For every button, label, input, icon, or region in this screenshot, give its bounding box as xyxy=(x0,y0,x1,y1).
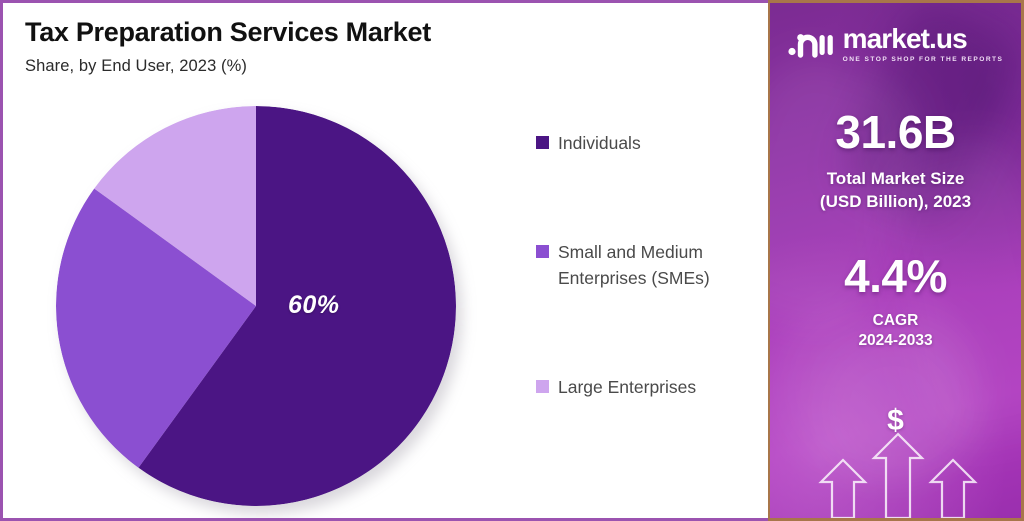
legend-label: Small and Medium Enterprises (SMEs) xyxy=(558,240,751,291)
cagr-caption-line1: CAGR xyxy=(770,311,1021,331)
chart-subtitle: Share, by End User, 2023 (%) xyxy=(25,57,768,76)
market-size-caption-line1: Total Market Size xyxy=(770,168,1021,190)
legend-swatch-icon xyxy=(536,245,549,258)
legend-item-large-enterprises[interactable]: Large Enterprises xyxy=(536,375,751,400)
brand-logo-text: market.us ONE STOP SHOP FOR THE REPORTS xyxy=(843,25,1004,63)
legend-item-smes[interactable]: Small and Medium Enterprises (SMEs) xyxy=(536,240,751,291)
infographic-root: Tax Preparation Services Market Share, b… xyxy=(0,0,1024,521)
pie-svg xyxy=(56,106,456,506)
market-us-logo-icon xyxy=(788,29,834,59)
pie-chart: 60% xyxy=(56,106,456,506)
brand-logo[interactable]: market.us ONE STOP SHOP FOR THE REPORTS xyxy=(770,3,1021,63)
legend-label: Large Enterprises xyxy=(558,375,696,400)
cagr-value: 4.4% xyxy=(770,249,1021,303)
dollar-sign-icon: $ xyxy=(770,404,1021,438)
growth-arrows: $ xyxy=(770,408,1021,518)
chart-panel: Tax Preparation Services Market Share, b… xyxy=(0,0,768,521)
legend-item-individuals[interactable]: Individuals xyxy=(536,131,751,156)
market-size-value: 31.6B xyxy=(770,105,1021,159)
legend-swatch-icon xyxy=(536,380,549,393)
pie-slices xyxy=(56,106,456,506)
chart-legend: Individuals Small and Medium Enterprises… xyxy=(536,131,751,485)
brand-name: market.us xyxy=(843,25,1004,53)
brand-tagline: ONE STOP SHOP FOR THE REPORTS xyxy=(843,56,1004,63)
cagr-caption-line2: 2024-2033 xyxy=(770,331,1021,351)
market-size-caption-line2: (USD Billion), 2023 xyxy=(770,191,1021,213)
legend-label: Individuals xyxy=(558,131,641,156)
pie-slice-label-individuals: 60% xyxy=(288,291,340,320)
stat-panel: market.us ONE STOP SHOP FOR THE REPORTS … xyxy=(768,0,1024,521)
legend-swatch-icon xyxy=(536,136,549,149)
page-title: Tax Preparation Services Market xyxy=(25,17,768,48)
chart-header: Tax Preparation Services Market Share, b… xyxy=(3,3,768,76)
